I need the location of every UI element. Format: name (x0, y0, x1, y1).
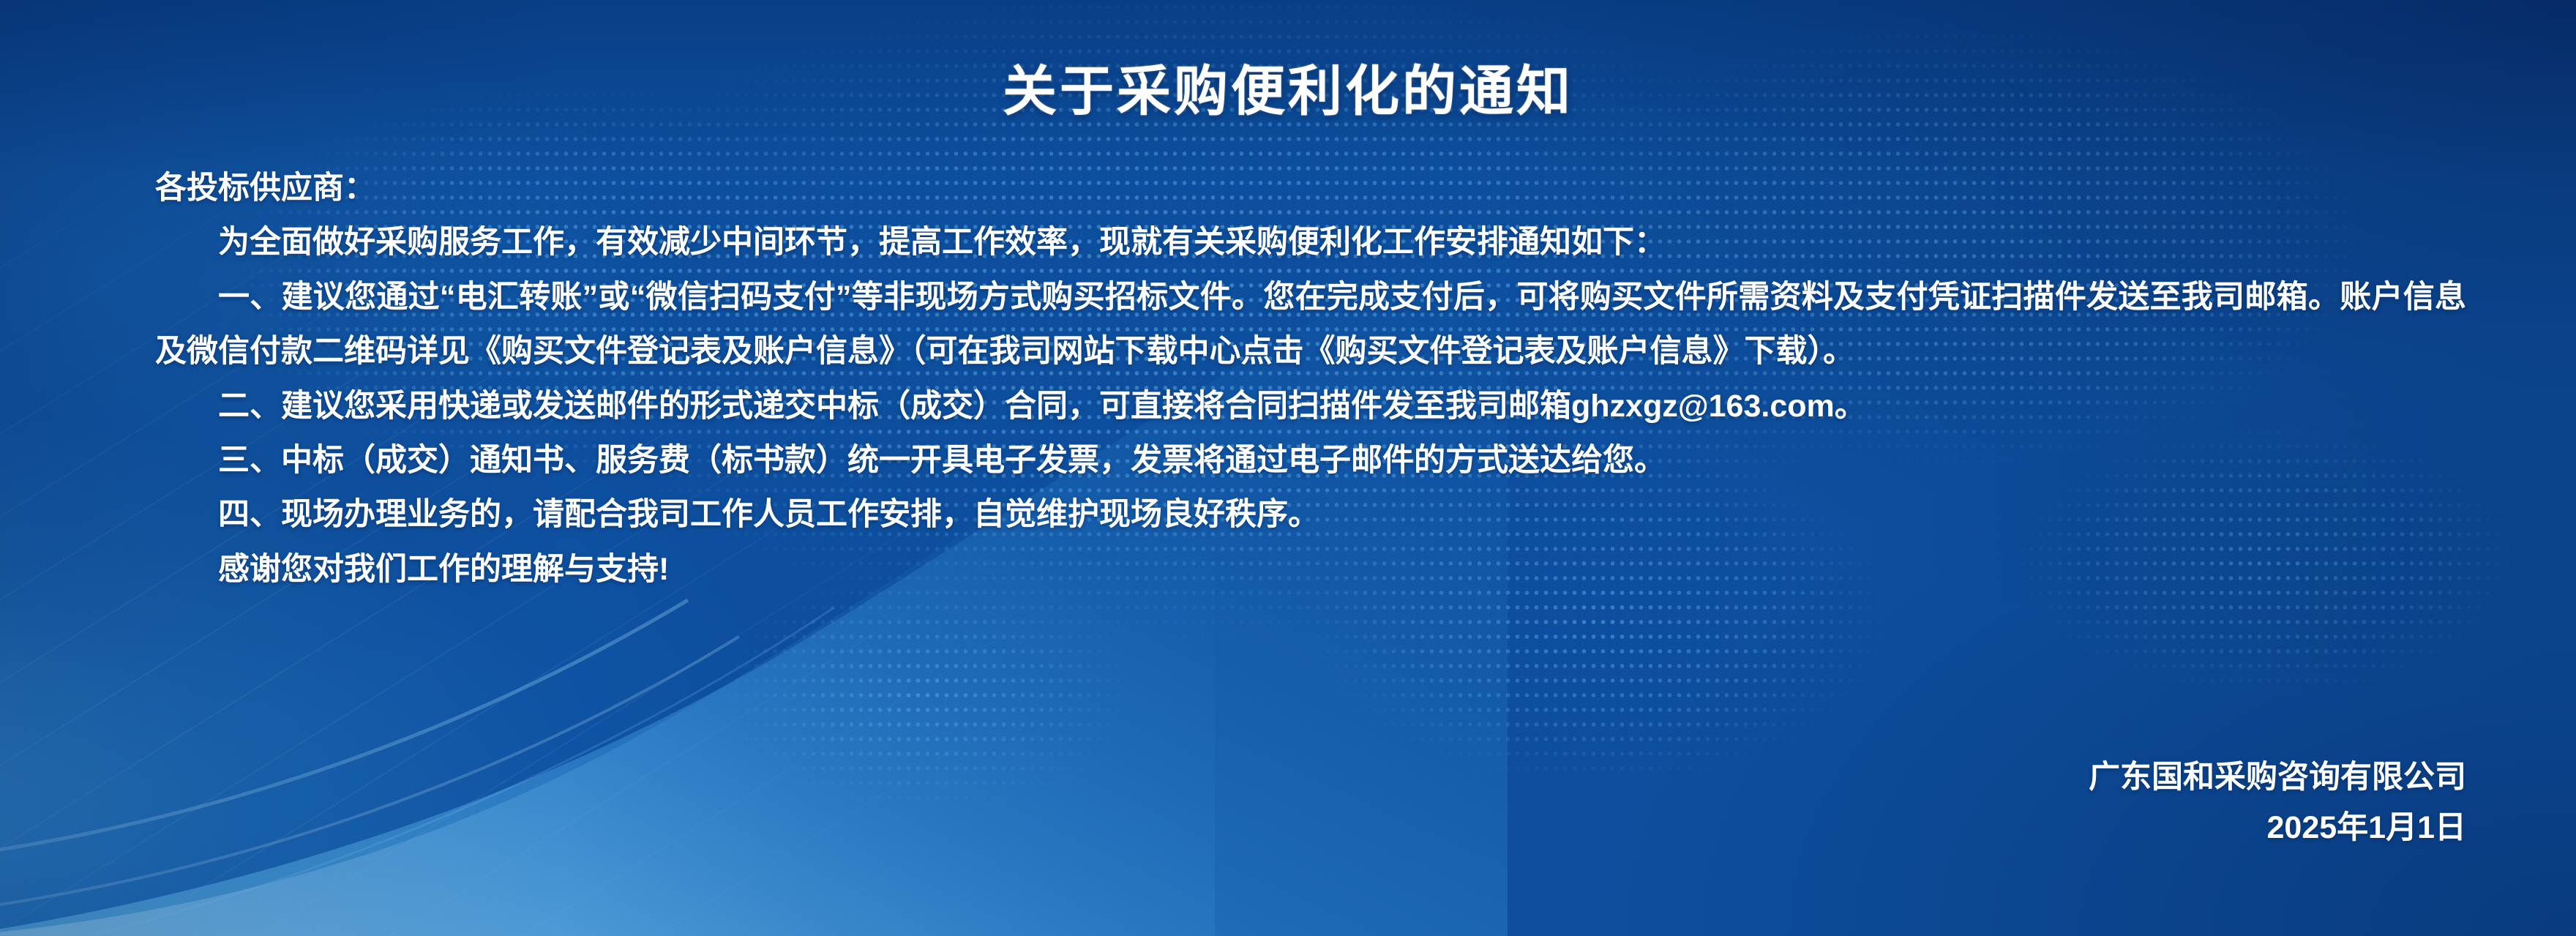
signature-block: 广东国和采购咨询有限公司 2025年1月1日 (2089, 752, 2466, 854)
item-one-paragraph: 一、建议您通过“电汇转账”或“微信扫码支付”等非现场方式购买招标文件。您在完成支… (155, 270, 2466, 379)
page-title: 关于采购便利化的通知 (0, 0, 2576, 119)
salutation-line: 各投标供应商： (155, 161, 2466, 215)
item-three-paragraph: 三、中标（成交）通知书、服务费（标书款）统一开具电子发票，发票将通过电子邮件的方… (155, 433, 2466, 487)
item-four-paragraph: 四、现场办理业务的，请配合我司工作人员工作安排，自觉维护现场良好秩序。 (155, 487, 2466, 542)
signature-company: 广东国和采购咨询有限公司 (2089, 752, 2466, 804)
notice-banner: 关于采购便利化的通知 各投标供应商： 为全面做好采购服务工作，有效减少中间环节，… (0, 0, 2576, 936)
signature-date: 2025年1月1日 (2089, 803, 2466, 854)
closing-thanks-line: 感谢您对我们工作的理解与支持! (155, 542, 2466, 596)
intro-paragraph: 为全面做好采购服务工作，有效减少中间环节，提高工作效率，现就有关采购便利化工作安… (155, 215, 2466, 269)
notice-content: 关于采购便利化的通知 各投标供应商： 为全面做好采购服务工作，有效减少中间环节，… (0, 0, 2576, 936)
item-two-paragraph: 二、建议您采用快递或发送邮件的形式递交中标（成交）合同，可直接将合同扫描件发至我… (155, 379, 2466, 433)
notice-body: 各投标供应商： 为全面做好采购服务工作，有效减少中间环节，提高工作效率，现就有关… (0, 119, 2576, 596)
